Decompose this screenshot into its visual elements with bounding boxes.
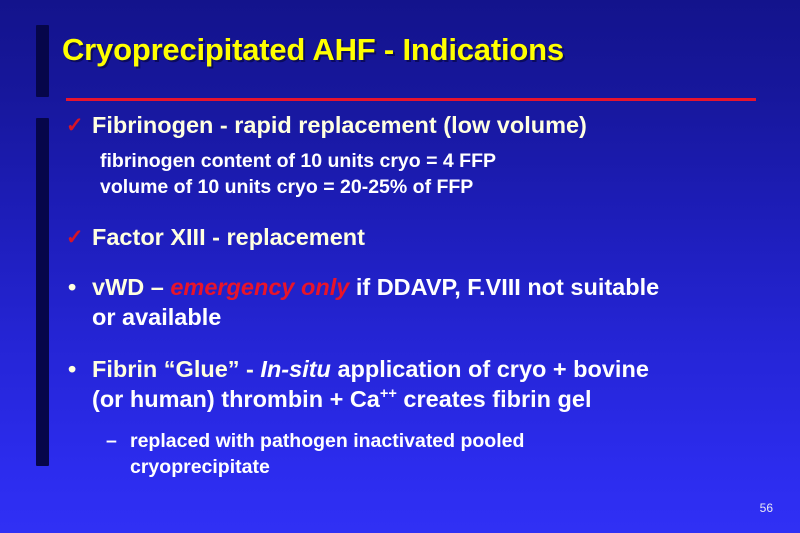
bullet-label-fibrin-glue-continuation: (or human) thrombin + Ca++ creates fibri… <box>0 384 800 414</box>
spacer <box>0 200 800 222</box>
spacer <box>0 140 800 148</box>
title-divider-rule <box>66 98 756 101</box>
page-title: Cryoprecipitated AHF - Indications <box>62 32 564 68</box>
slide-canvas: Cryoprecipitated AHF - Indications ✓ Fib… <box>0 0 800 533</box>
slide-body: ✓ Fibrinogen - rapid replacement (low vo… <box>0 110 800 480</box>
bullet-item-fibrinogen: ✓ Fibrinogen - rapid replacement (low vo… <box>0 110 800 140</box>
bullet-label-fibrinogen: Fibrinogen - rapid replacement (low volu… <box>92 112 587 138</box>
sub-line-fibrinogen-content: fibrinogen content of 10 units cryo = 4 … <box>0 148 800 174</box>
thrombin-text-pre: (or human) thrombin + Ca <box>92 386 380 412</box>
bullet-label-fibrin-glue-part1: Fibrin “Glue” - <box>92 356 260 382</box>
spacer <box>0 414 800 428</box>
thrombin-text-post: creates fibrin gel <box>397 386 592 412</box>
sub-line-fibrinogen-volume: volume of 10 units cryo = 20-25% of FFP <box>0 174 800 200</box>
emphasis-in-situ: In-situ <box>260 356 331 382</box>
bullet-item-vwd: • vWD – emergency only if DDAVP, F.VIII … <box>0 272 800 302</box>
bullet-dot-icon: • <box>68 354 76 384</box>
bullet-dot-icon: • <box>68 272 76 302</box>
dash-icon: – <box>106 428 117 454</box>
superscript-charge: ++ <box>380 386 397 402</box>
check-icon: ✓ <box>66 111 84 141</box>
bullet-label-factor-xiii: Factor XIII - replacement <box>92 224 365 250</box>
bullet-label-vwd-continuation: or available <box>0 302 800 332</box>
accent-bar-top <box>36 25 49 97</box>
spacer <box>0 252 800 272</box>
bullet-label-fibrin-glue-part2: application of cryo + bovine <box>331 356 649 382</box>
bullet-item-factor-xiii: ✓ Factor XIII - replacement <box>0 222 800 252</box>
page-number: 56 <box>760 501 773 515</box>
bullet-label-vwd-part2: if DDAVP, F.VIII not suitable <box>349 274 659 300</box>
sub-bullet-label-replaced-continuation: cryoprecipitate <box>0 454 800 480</box>
sub-bullet-label-replaced: replaced with pathogen inactivated poole… <box>130 430 524 452</box>
bullet-item-fibrin-glue: • Fibrin “Glue” - In-situ application of… <box>0 354 800 384</box>
bullet-label-vwd-part1: vWD – <box>92 274 170 300</box>
check-icon: ✓ <box>66 223 84 253</box>
emphasis-emergency-only: emergency only <box>170 274 349 300</box>
spacer <box>0 332 800 354</box>
sub-bullet-item-replaced: – replaced with pathogen inactivated poo… <box>0 428 800 454</box>
